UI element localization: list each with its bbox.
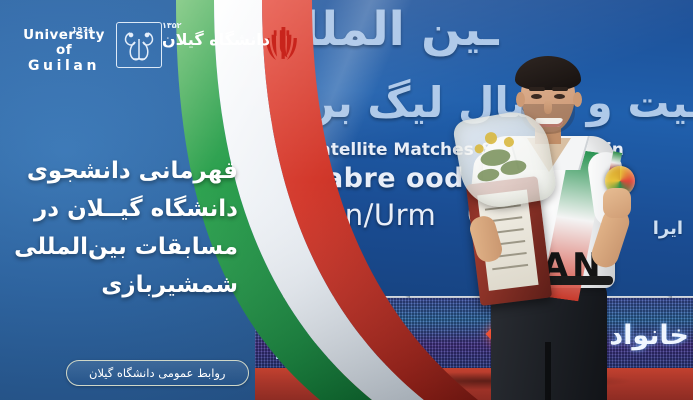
- athlete-eye-right: [554, 94, 565, 99]
- logo-founding-year-persian: ۱۳۵۲: [162, 21, 182, 30]
- athlete-eyebrow-right: [552, 87, 568, 91]
- athlete-eye-left: [531, 94, 542, 99]
- athlete-hair: [515, 56, 581, 90]
- logo-founding-year-latin: 1974: [72, 26, 93, 34]
- logo-line-1: University of: [16, 28, 112, 58]
- athlete-ear-right: [573, 92, 582, 107]
- headline-line-3: مسابقات بین‌المللی: [33, 228, 238, 266]
- headline-line-2: دانشگاه گیــلان در: [33, 190, 238, 228]
- headline-line-4: شمشیربازی: [33, 266, 238, 304]
- university-logo[interactable]: 1974 University of Guilan ۱۳۵۲ دانشگاه گ…: [16, 22, 201, 68]
- public-relations-badge[interactable]: روابط عمومی دانشگاه گیلان: [66, 360, 249, 386]
- athlete-figure: IRAN: [455, 40, 645, 400]
- university-logo-text: 1974 University of Guilan: [16, 28, 112, 74]
- logo-line-2: Guilan: [16, 58, 112, 74]
- athlete-eyebrow-left: [529, 87, 545, 91]
- athlete-right-hand: [603, 188, 631, 218]
- guilan-emblem-icon: [116, 22, 162, 68]
- backdrop-english-line-3: Iran/Urm: [305, 198, 436, 232]
- event-photograph: ـین المللـ ـیت و فینال لیگ برتر Satellit…: [255, 0, 693, 400]
- headline-line-1: قهرمانی دانشجوی: [33, 152, 238, 190]
- logo-persian-name: دانشگاه گیلان: [162, 30, 270, 49]
- athlete-ear-left: [516, 92, 525, 107]
- backdrop-english-line-2: Sabre ood: [305, 163, 464, 194]
- sponsor-name-latin: Melat ins: [275, 348, 351, 363]
- promotional-banner: ـین المللـ ـیت و فینال لیگ برتر Satellit…: [0, 0, 693, 400]
- headline: قهرمانی دانشجوی دانشگاه گیــلان در مسابق…: [33, 152, 238, 304]
- athlete-nose: [544, 100, 552, 114]
- sponsor-name-persian: بیمه ملت: [277, 320, 394, 350]
- backdrop-persian-line-3: ایرا: [653, 218, 683, 239]
